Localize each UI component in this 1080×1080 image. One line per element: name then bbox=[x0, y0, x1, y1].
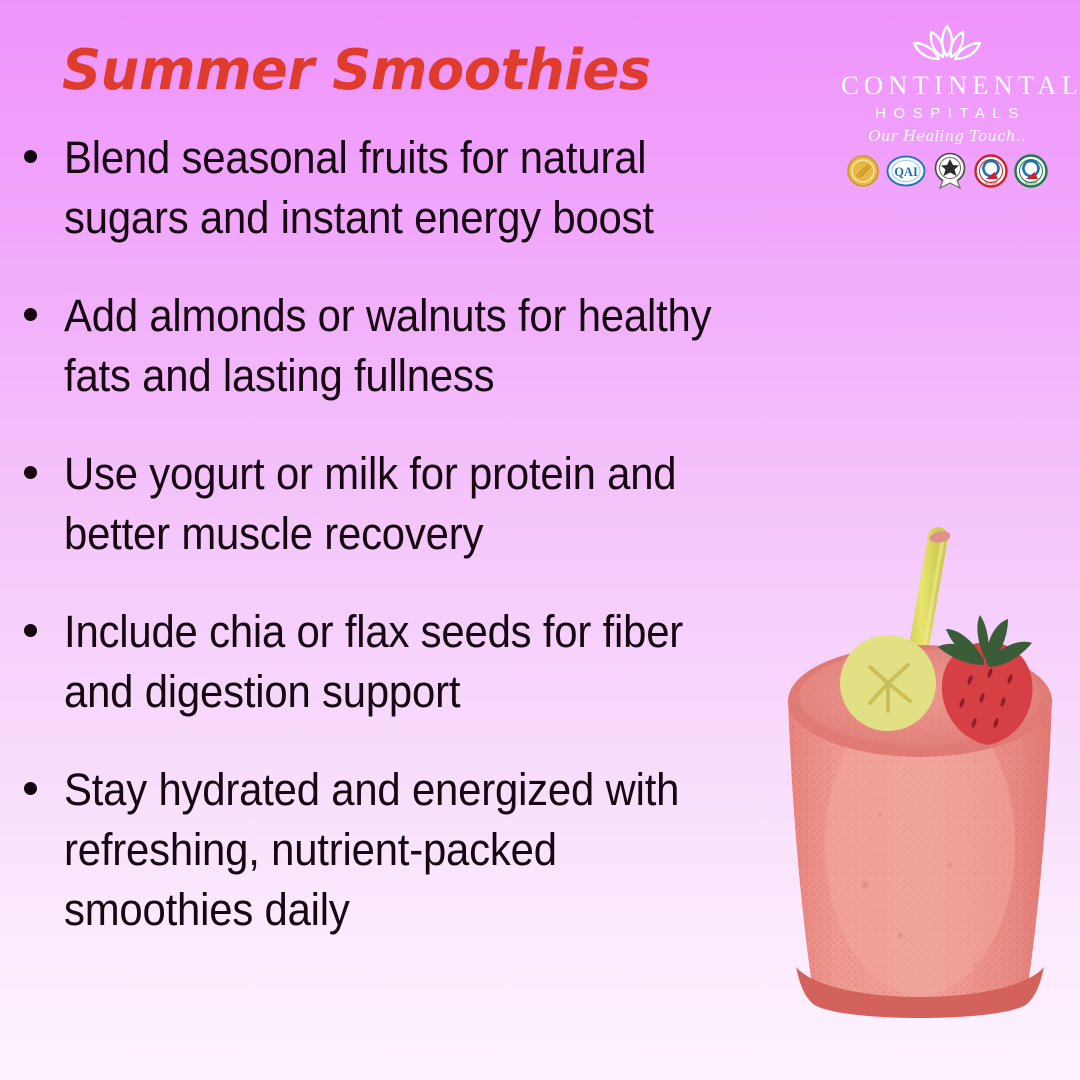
svg-text:NABH: NABH bbox=[985, 180, 997, 185]
nabh-red-accreditation-badge: NABH bbox=[974, 154, 1008, 188]
list-item: Stay hydrated and energized with refresh… bbox=[24, 760, 764, 940]
logo-name: CONTINENTAL bbox=[836, 72, 1058, 99]
list-item: Include chia or flax seeds for fiber and… bbox=[24, 602, 764, 722]
bullet-dot-icon bbox=[24, 150, 37, 163]
smoothie-glass-illustration bbox=[770, 515, 1070, 1060]
list-item-text: Use yogurt or milk for protein and bette… bbox=[64, 444, 715, 564]
list-item-text: Add almonds or walnuts for healthy fats … bbox=[64, 286, 715, 406]
bullet-dot-icon bbox=[24, 308, 37, 321]
page-title: Summer Smoothies bbox=[62, 38, 651, 103]
tips-list: Blend seasonal fruits for natural sugars… bbox=[24, 128, 764, 940]
list-item: Use yogurt or milk for protein and bette… bbox=[24, 444, 764, 564]
list-item: Blend seasonal fruits for natural sugars… bbox=[24, 128, 764, 248]
lotus-icon bbox=[901, 22, 993, 74]
bullet-dot-icon bbox=[24, 782, 37, 795]
logo-tagline: Our Healing Touch.. bbox=[836, 127, 1058, 145]
brand-logo: CONTINENTAL HOSPITALS Our Healing Touch.… bbox=[836, 22, 1058, 190]
list-item-text: Blend seasonal fruits for natural sugars… bbox=[64, 128, 715, 248]
bullet-dot-icon bbox=[24, 466, 37, 479]
bullet-dot-icon bbox=[24, 624, 37, 637]
list-item-text: Include chia or flax seeds for fiber and… bbox=[64, 602, 715, 722]
accreditation-badges: QAI NABH NABH bbox=[836, 152, 1058, 190]
svg-text:NABH: NABH bbox=[1025, 180, 1037, 185]
list-item: Add almonds or walnuts for healthy fats … bbox=[24, 286, 764, 406]
svg-text:QAI: QAI bbox=[894, 165, 918, 179]
gold-medal-badge bbox=[846, 154, 880, 188]
logo-subname: HOSPITALS bbox=[836, 105, 1058, 122]
lemon-slice-icon bbox=[840, 635, 936, 731]
poster-canvas: Summer Smoothies CONTINENTAL HOSPITALS O… bbox=[0, 0, 1080, 1080]
nabh-green-accreditation-badge: NABH bbox=[1014, 154, 1048, 188]
list-item-text: Stay hydrated and energized with refresh… bbox=[64, 760, 715, 940]
jci-star-accreditation-badge bbox=[932, 152, 968, 190]
qai-accreditation-badge: QAI bbox=[886, 155, 926, 187]
